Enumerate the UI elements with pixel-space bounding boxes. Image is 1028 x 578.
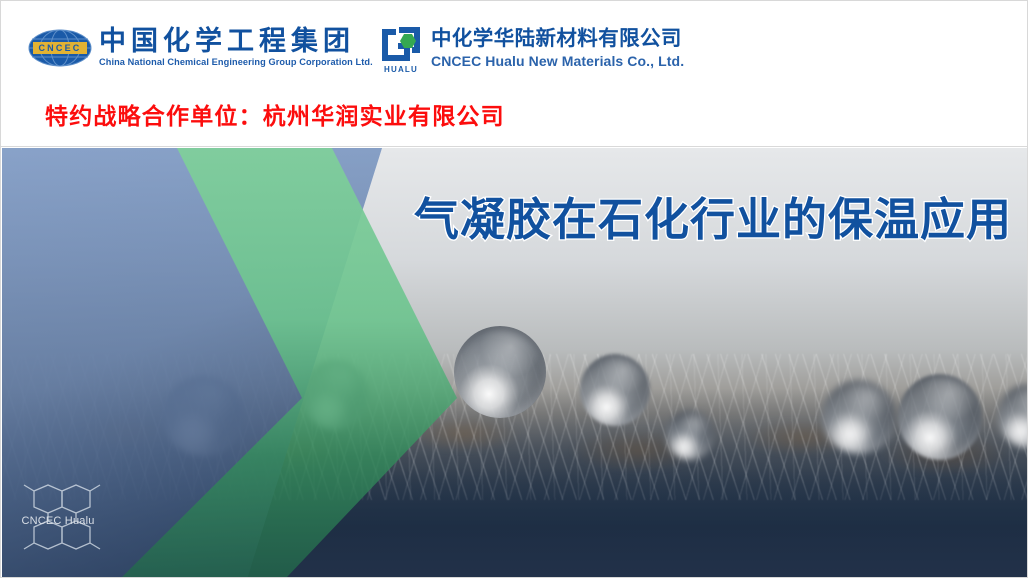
cncec-globe-icon: CNCEC [27, 28, 93, 68]
watermark: CNCEC Hualu [8, 475, 108, 567]
water-droplet [666, 410, 714, 460]
logo-row: CNCEC 中国化学工程集团 China National Chemical E… [1, 19, 1027, 81]
hualu-logo-text: 中化学华陆新材料有限公司 CNCEC Hualu New Materials C… [431, 28, 684, 70]
hualu-hexagon-icon: HUALU [379, 25, 423, 73]
water-droplet [822, 380, 896, 454]
water-droplet [454, 326, 546, 418]
presentation-slide: CNCEC 中国化学工程集团 China National Chemical E… [0, 0, 1028, 578]
page-title: 气凝胶在石化行业的保温应用 [414, 183, 1012, 248]
cncec-logo-text: 中国化学工程集团 China National Chemical Enginee… [99, 27, 373, 68]
svg-text:CNCEC: CNCEC [38, 43, 81, 53]
cncec-logo: CNCEC 中国化学工程集团 China National Chemical E… [27, 27, 373, 68]
cncec-logo-en: China National Chemical Engineering Grou… [99, 57, 373, 68]
watermark-label: CNCEC Hualu [8, 515, 108, 527]
hualu-logo: HUALU 中化学华陆新材料有限公司 CNCEC Hualu New Mater… [379, 25, 684, 73]
partner-line: 特约战略合作单位：杭州华润实业有限公司 [45, 97, 505, 131]
water-droplet [898, 374, 982, 460]
water-droplet [580, 354, 650, 426]
hero-banner: 气凝胶在石化行业的保温应用 CNCEC Hualu [2, 148, 1028, 577]
hualu-logo-en: CNCEC Hualu New Materials Co., Ltd. [431, 53, 684, 70]
cncec-logo-cn: 中国化学工程集团 [99, 27, 373, 55]
hualu-logo-cn: 中化学华陆新材料有限公司 [431, 28, 684, 51]
slide-header: CNCEC 中国化学工程集团 China National Chemical E… [1, 1, 1027, 147]
hualu-logo-word: HUALU [379, 65, 423, 74]
